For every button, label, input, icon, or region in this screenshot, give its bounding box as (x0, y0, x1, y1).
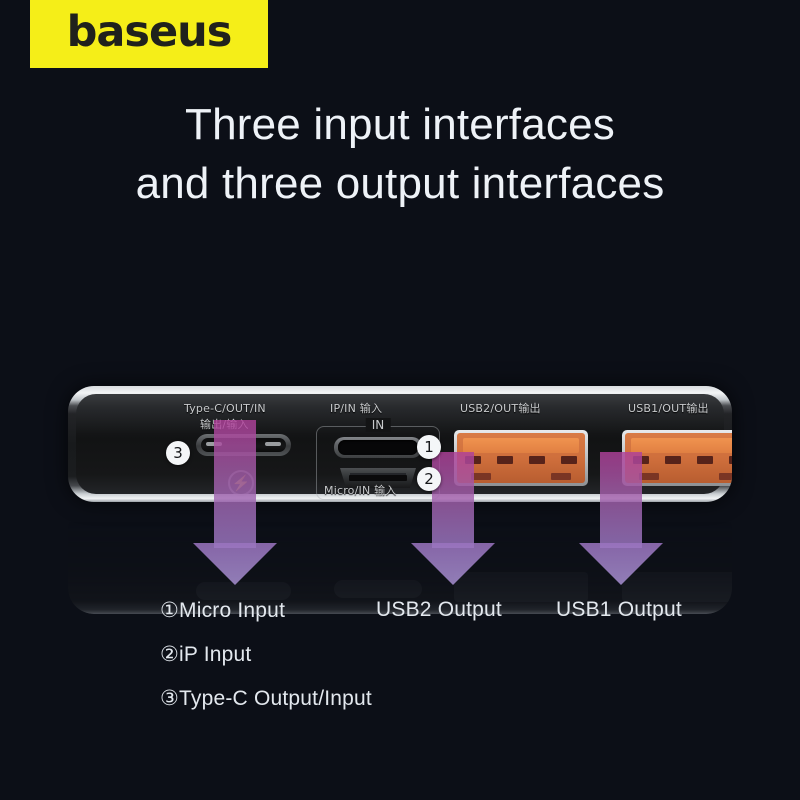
ip-lightning-port (334, 437, 422, 458)
marker-2: 2 (417, 467, 441, 491)
label-in-group: IN (366, 418, 391, 432)
headline-line-2: and three output interfaces (0, 155, 800, 214)
arrow-2-shaft (432, 452, 474, 548)
caption-usb1-output: USB1 Output (556, 598, 682, 622)
label-ip-port: IP/IN 输入 (330, 400, 382, 416)
micro-usb-slot (349, 475, 407, 481)
brand-name: baseus (67, 11, 232, 57)
arrow-3-head (579, 543, 663, 585)
arrow-1-head (193, 543, 277, 585)
headline-line-1: Three input interfaces (0, 96, 800, 155)
arrow-2-head (411, 543, 495, 585)
product-image-stage: Type-C/OUT/IN 输出/输入 ⚡ IP/IN 输入 IN Micro/… (0, 370, 800, 610)
caption-micro-input: ①Micro Input (160, 598, 285, 623)
caption-typec-output-input: ③Type-C Output/Input (160, 686, 372, 711)
label-typec-line1: Type-C/OUT/IN (184, 402, 266, 415)
label-micro-port: Micro/IN 输入 (324, 482, 396, 498)
caption-usb2-output: USB2 Output (376, 598, 502, 622)
label-usb1-port: USB1/OUT输出 (628, 400, 709, 416)
label-usb2-port: USB2/OUT输出 (460, 400, 541, 416)
marker-1: 1 (417, 435, 441, 459)
arrow-3-shaft (600, 452, 642, 548)
usb2-contact-bar (463, 438, 579, 453)
caption-ip-input: ②iP Input (160, 642, 251, 667)
arrow-micro-input (193, 420, 277, 585)
marker-3: 3 (166, 441, 190, 465)
arrow-usb1-output (579, 452, 663, 586)
usb1-contact-bar (631, 438, 732, 453)
page-title: Three input interfaces and three output … (0, 96, 800, 213)
ip-port-cavity (338, 440, 418, 455)
reflection-ip-port (334, 580, 422, 598)
brand-logo-block: baseus (30, 0, 268, 68)
arrow-1-shaft (214, 420, 256, 548)
